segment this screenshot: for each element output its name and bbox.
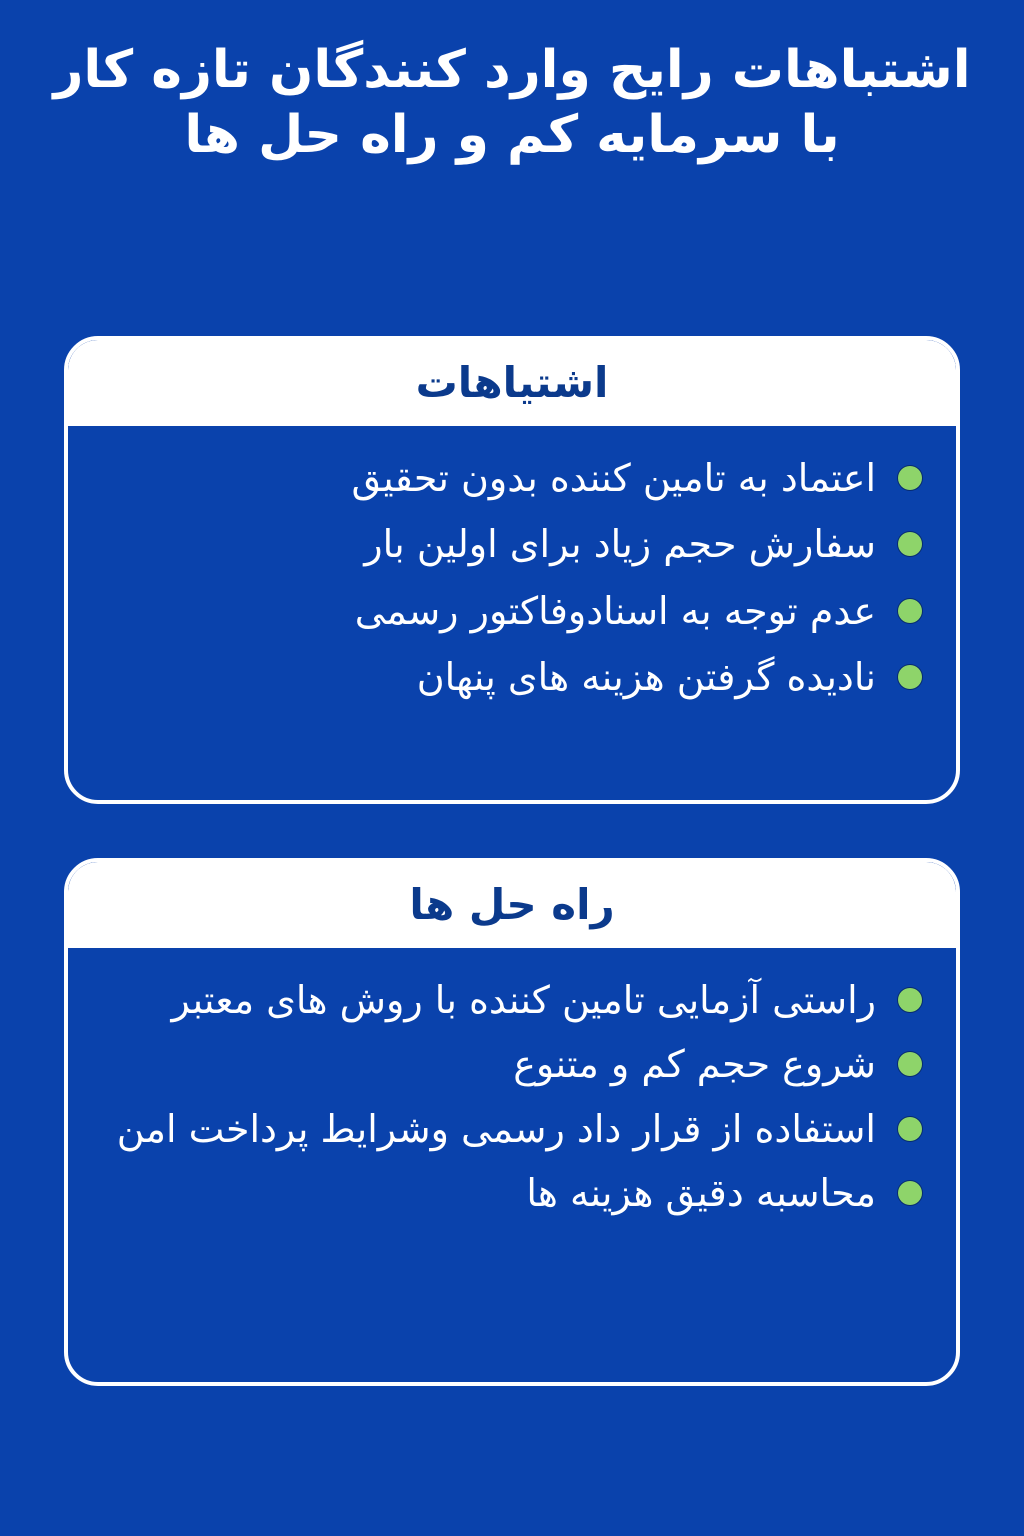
bullet-dot-icon <box>898 988 922 1012</box>
list-item: اعتماد به تامین کننده بدون تحقیق <box>102 452 922 504</box>
list-item: راستی آزمایی تامین کننده با روش های معتب… <box>102 974 922 1026</box>
list-item-label: سفارش حجم زیاد برای اولین بار <box>102 518 876 570</box>
list-item: استفاده از قرار داد رسمی وشرایط پرداخت ا… <box>102 1103 922 1155</box>
list-item-label: محاسبه دقیق هزینه ها <box>102 1167 876 1219</box>
list-item-label: استفاده از قرار داد رسمی وشرایط پرداخت ا… <box>102 1103 876 1155</box>
card-solutions: راه حل ها راستی آزمایی تامین کننده با رو… <box>64 858 960 1386</box>
list-item: سفارش حجم زیاد برای اولین بار <box>102 518 922 570</box>
card-solutions-body: راستی آزمایی تامین کننده با روش های معتب… <box>68 948 956 1252</box>
bullet-dot-icon <box>898 1052 922 1076</box>
bullet-dot-icon <box>898 532 922 556</box>
bullet-dot-icon <box>898 665 922 689</box>
list-item-label: اعتماد به تامین کننده بدون تحقیق <box>102 452 876 504</box>
list-item-label: شروع حجم کم و متنوع <box>102 1038 876 1090</box>
card-solutions-header-label: راه حل ها <box>409 884 614 926</box>
card-mistakes-body: اعتماد به تامین کننده بدون تحقیق سفارش ح… <box>68 426 956 724</box>
page-title-line-2: با سرمایه کم و راه حل ها <box>30 105 994 166</box>
list-item: نادیده گرفتن هزینه های پنهان <box>102 651 922 703</box>
bullet-dot-icon <box>898 599 922 623</box>
card-mistakes: اشتیاهات اعتماد به تامین کننده بدون تحقی… <box>64 336 960 804</box>
bullet-dot-icon <box>898 466 922 490</box>
page-title: اشتباهات رایح وارد کنندگان تازه کار با س… <box>0 0 1024 167</box>
page-title-line-1: اشتباهات رایح وارد کنندگان تازه کار <box>30 40 994 101</box>
list-item-label: راستی آزمایی تامین کننده با روش های معتب… <box>102 974 876 1026</box>
list-item: محاسبه دقیق هزینه ها <box>102 1167 922 1219</box>
bullet-dot-icon <box>898 1181 922 1205</box>
solutions-list: راستی آزمایی تامین کننده با روش های معتب… <box>102 974 922 1220</box>
bullet-dot-icon <box>898 1117 922 1141</box>
card-solutions-header: راه حل ها <box>68 862 956 948</box>
card-mistakes-header: اشتیاهات <box>68 340 956 426</box>
list-item-label: عدم توجه به اسنادوفاکتور رسمی <box>102 585 876 637</box>
list-item: عدم توجه به اسنادوفاکتور رسمی <box>102 585 922 637</box>
list-item: شروع حجم کم و متنوع <box>102 1038 922 1090</box>
list-item-label: نادیده گرفتن هزینه های پنهان <box>102 651 876 703</box>
mistakes-list: اعتماد به تامین کننده بدون تحقیق سفارش ح… <box>102 452 922 704</box>
card-mistakes-header-label: اشتیاهات <box>416 362 609 404</box>
